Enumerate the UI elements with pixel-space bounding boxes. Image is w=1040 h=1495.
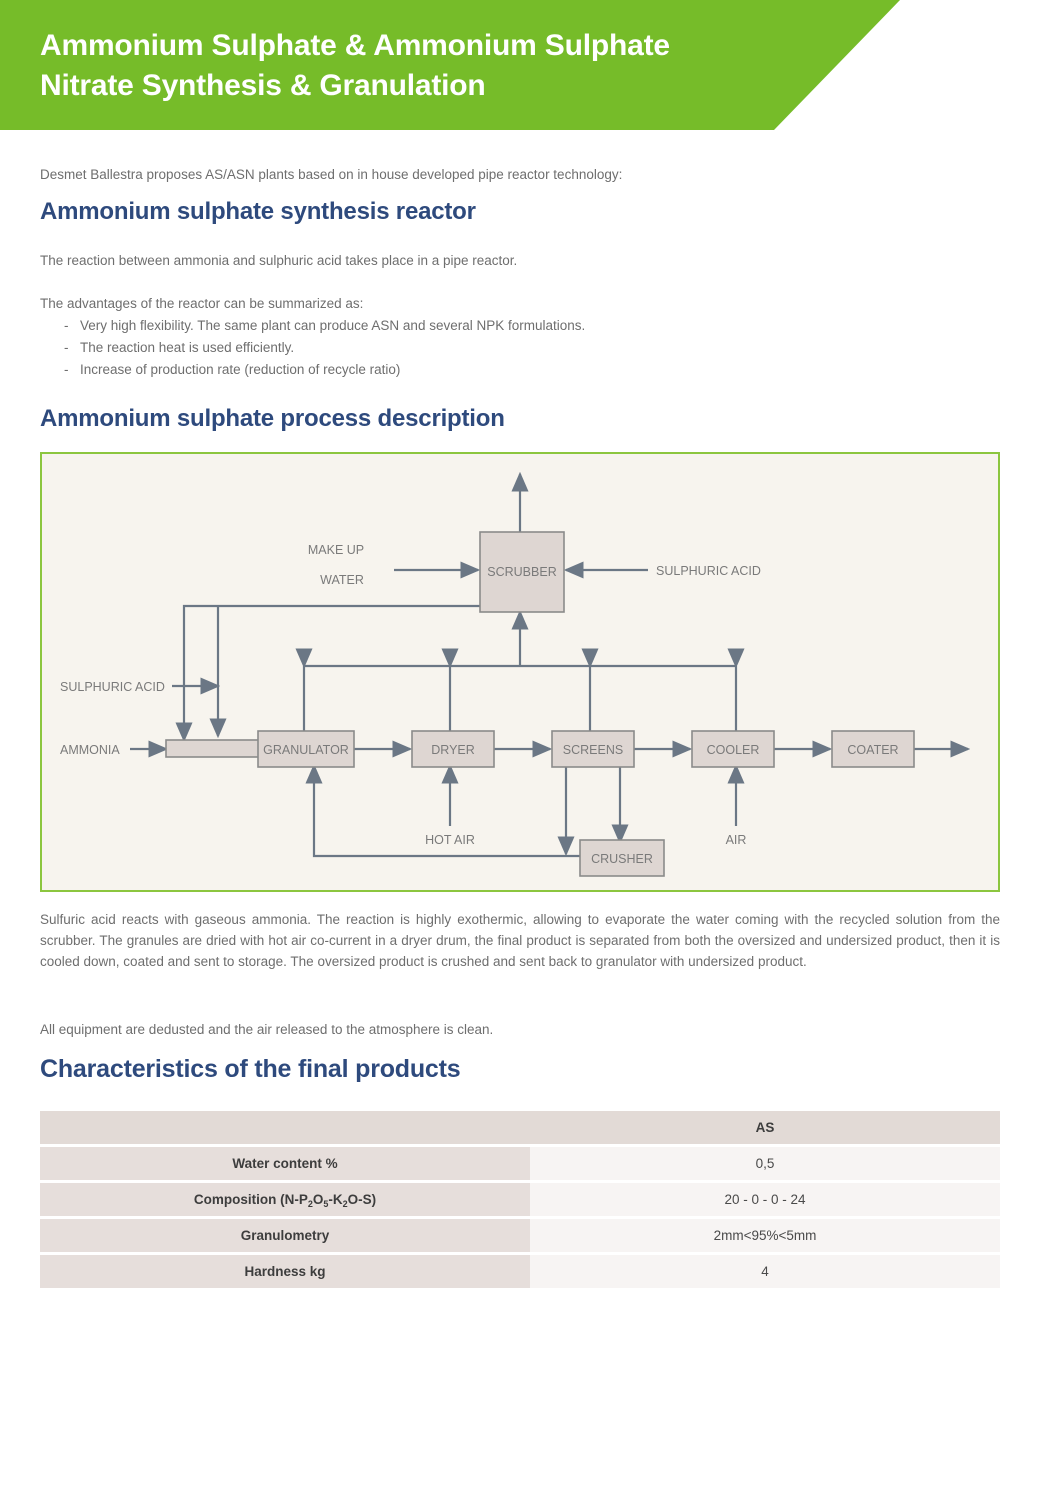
page-title-line-2: Nitrate Synthesis & Granulation — [40, 66, 830, 106]
heading-characteristics: Characteristics of the final products — [40, 1055, 460, 1084]
table-header-row: AS — [40, 1111, 1000, 1144]
process-flow-svg: SCRUBBER GRANULATOR DRYER SCREENS COOLER… — [42, 454, 998, 890]
heading-synthesis-reactor: Ammonium sulphate synthesis reactor — [40, 198, 476, 226]
page-title-line-1: Ammonium Sulphate & Ammonium Sulphate — [40, 26, 830, 66]
stream-label-sulphuric-acid-scrubber: SULPHURIC ACID — [656, 564, 761, 578]
unit-label-crusher: CRUSHER — [591, 852, 653, 866]
process-flow-diagram: SCRUBBER GRANULATOR DRYER SCREENS COOLER… — [40, 452, 1000, 892]
reactor-paragraph: The reaction between ammonia and sulphur… — [40, 251, 1000, 272]
unit-label-coater: COATER — [847, 743, 898, 757]
unit-label-granulator: GRANULATOR — [263, 743, 349, 757]
advantages-list: Very high flexibility. The same plant ca… — [62, 315, 962, 381]
row-value-composition: 20 - 0 - 0 - 24 — [530, 1183, 1000, 1216]
row-value-water-content: 0,5 — [530, 1147, 1000, 1180]
unit-label-screens: SCREENS — [563, 743, 623, 757]
flow-scrubber-recycle — [184, 606, 482, 740]
heading-process-description: Ammonium sulphate process description — [40, 405, 505, 433]
stream-label-sulphuric-acid-reactor: SULPHURIC ACID — [60, 680, 165, 694]
unit-label-scrubber: SCRUBBER — [487, 565, 556, 579]
row-label-composition: Composition (N-P2O5-K2O-S) — [40, 1183, 530, 1216]
table-row: Composition (N-P2O5-K2O-S) 20 - 0 - 0 - … — [40, 1183, 1000, 1216]
stream-label-water: WATER — [320, 573, 364, 587]
table-row: Water content % 0,5 — [40, 1147, 1000, 1180]
row-label-water-content: Water content % — [40, 1147, 530, 1180]
process-paragraph: Sulfuric acid reacts with gaseous ammoni… — [40, 910, 1000, 973]
table-row: Hardness kg 4 — [40, 1255, 1000, 1288]
dedust-paragraph: All equipment are dedusted and the air r… — [40, 1020, 1000, 1041]
advantages-lead: The advantages of the reactor can be sum… — [40, 294, 1000, 315]
stream-label-air: AIR — [726, 833, 747, 847]
list-item: The reaction heat is used efficiently. — [62, 337, 962, 359]
unit-label-dryer: DRYER — [431, 743, 475, 757]
list-item: Increase of production rate (reduction o… — [62, 359, 962, 381]
stream-label-make-up: MAKE UP — [308, 543, 364, 557]
unit-label-cooler: COOLER — [707, 743, 760, 757]
row-label-hardness: Hardness kg — [40, 1255, 530, 1288]
row-value-hardness: 4 — [530, 1255, 1000, 1288]
row-value-granulometry: 2mm<95%<5mm — [530, 1219, 1000, 1252]
table-header-blank — [40, 1111, 530, 1144]
table-header-as: AS — [530, 1111, 1000, 1144]
stream-label-hot-air: HOT AIR — [425, 833, 475, 847]
page-title: Ammonium Sulphate & Ammonium Sulphate Ni… — [40, 26, 830, 106]
characteristics-table: AS Water content % 0,5 Composition (N-P2… — [40, 1108, 1000, 1291]
list-item: Very high flexibility. The same plant ca… — [62, 315, 962, 337]
table-row: Granulometry 2mm<95%<5mm — [40, 1219, 1000, 1252]
intro-paragraph: Desmet Ballestra proposes AS/ASN plants … — [40, 165, 1000, 186]
unit-pipe-reactor — [166, 740, 260, 757]
stream-label-ammonia: AMMONIA — [60, 743, 120, 757]
row-label-granulometry: Granulometry — [40, 1219, 530, 1252]
